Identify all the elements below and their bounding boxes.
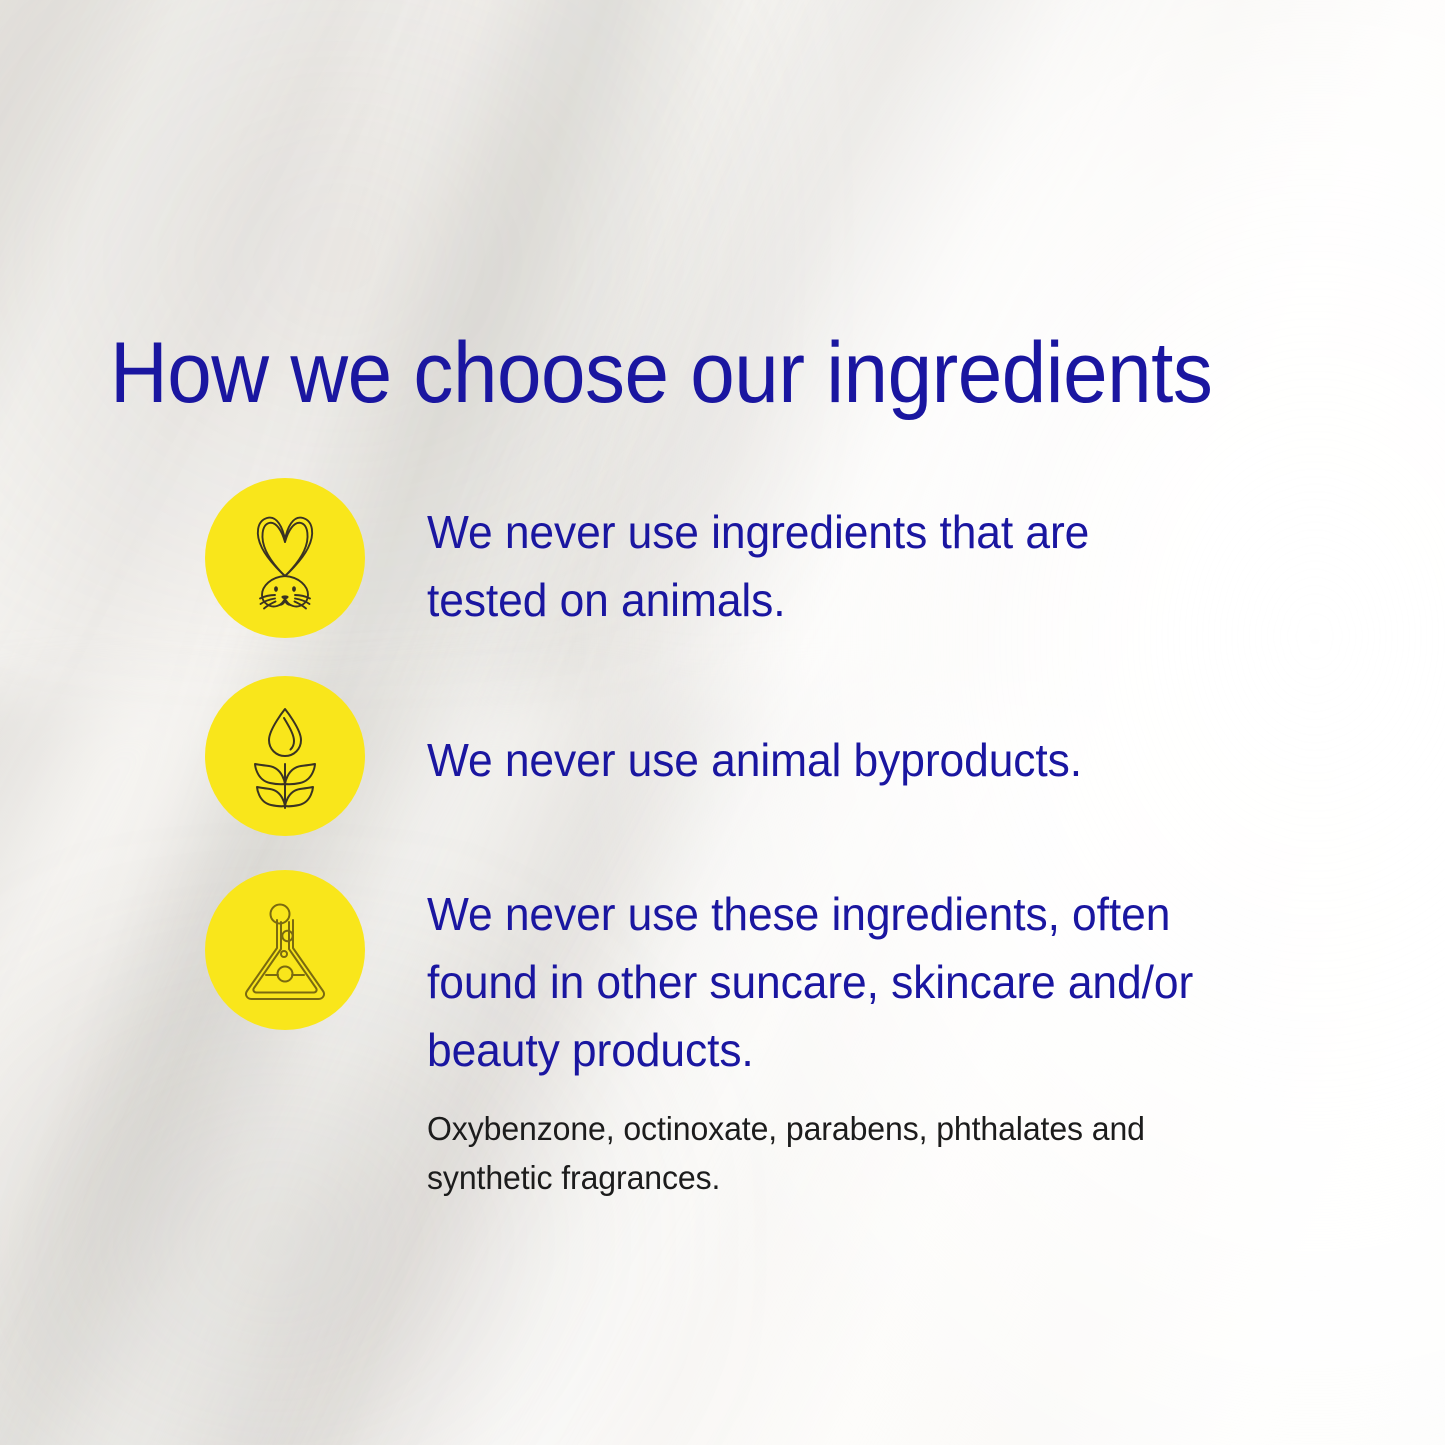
chemistry-flask-icon (205, 870, 365, 1030)
list-item-label: We never use animal byproducts. (427, 726, 1218, 794)
page-title: How we choose our ingredients (110, 330, 1282, 416)
infographic-canvas: How we choose our ingredients (0, 0, 1445, 1445)
plant-droplet-icon (205, 676, 365, 836)
excluded-ingredients-note: Oxybenzone, octinoxate, parabens, phthal… (427, 1104, 1164, 1202)
list-item-label: We never use ingredients that are tested… (427, 498, 1189, 634)
content-layer: How we choose our ingredients (0, 0, 1445, 1445)
bunny-heart-ears-icon (205, 478, 365, 638)
list-item-label: We never use these ingredients, often fo… (427, 880, 1276, 1084)
